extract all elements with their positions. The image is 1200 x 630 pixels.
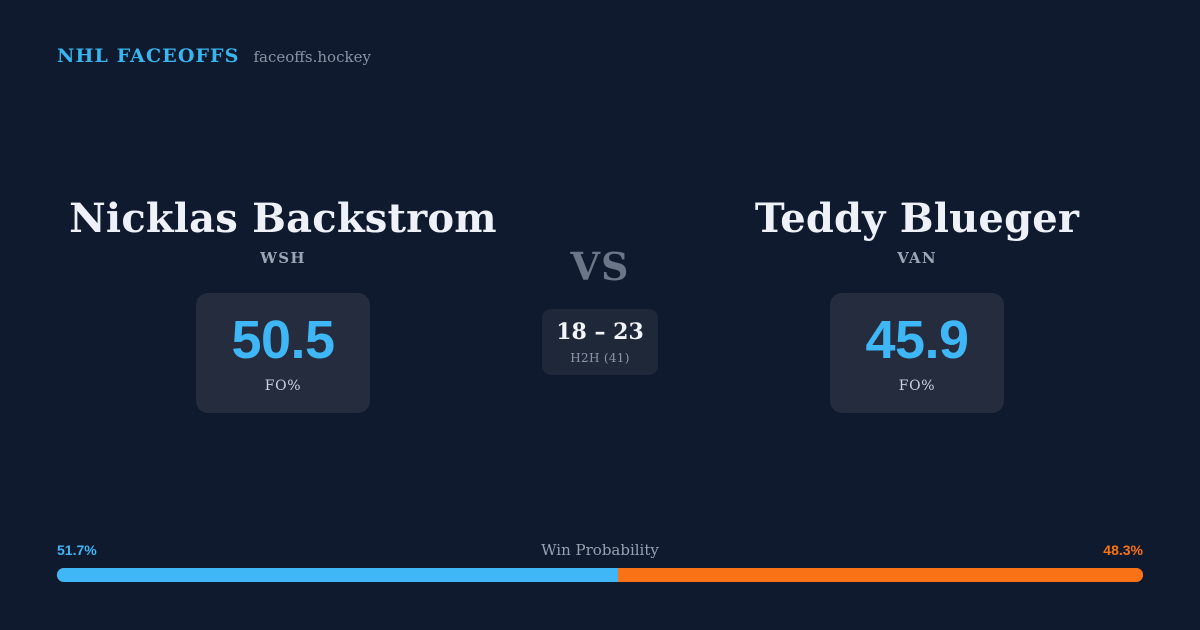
head-to-head-label: H2H (41): [570, 352, 629, 364]
site-domain-label: faceoffs.hockey: [253, 50, 370, 65]
brand-title: NHL FACEOFFS: [57, 47, 239, 66]
head-to-head-card: 18 – 23 H2H (41): [542, 309, 658, 375]
left-player-team: WSH: [260, 251, 306, 266]
right-faceoff-percentage-value: 45.9: [865, 313, 968, 367]
right-faceoff-percentage-label: FO%: [899, 379, 936, 393]
page-header: NHL FACEOFFS faceoffs.hockey: [57, 47, 371, 66]
win-probability-right-value: 48.3%: [1103, 543, 1143, 557]
win-probability-bar-right-segment: [618, 568, 1143, 582]
versus-block: VS 18 – 23 H2H (41): [500, 196, 700, 375]
head-to-head-score: 18 – 23: [556, 321, 644, 343]
left-faceoff-stat-card: 50.5 FO%: [196, 293, 370, 413]
left-faceoff-percentage-value: 50.5: [231, 313, 334, 367]
matchup-section: Nicklas Backstrom WSH 50.5 FO% VS 18 – 2…: [0, 196, 1200, 436]
right-player-name: Teddy Blueger: [755, 196, 1079, 242]
win-probability-title: Win Probability: [541, 543, 659, 558]
right-player-team: VAN: [897, 251, 937, 266]
win-probability-left-value: 51.7%: [57, 543, 97, 557]
left-player-name: Nicklas Backstrom: [69, 196, 497, 242]
right-player-block: Teddy Blueger VAN 45.9 FO%: [677, 196, 1157, 413]
win-probability-section: 51.7% Win Probability 48.3%: [57, 543, 1143, 582]
left-faceoff-percentage-label: FO%: [265, 379, 302, 393]
win-probability-labels: 51.7% Win Probability 48.3%: [57, 543, 1143, 558]
right-faceoff-stat-card: 45.9 FO%: [830, 293, 1004, 413]
versus-label: VS: [571, 248, 630, 286]
win-probability-bar-left-segment: [57, 568, 618, 582]
left-player-block: Nicklas Backstrom WSH 50.5 FO%: [43, 196, 523, 413]
win-probability-bar: [57, 568, 1143, 582]
